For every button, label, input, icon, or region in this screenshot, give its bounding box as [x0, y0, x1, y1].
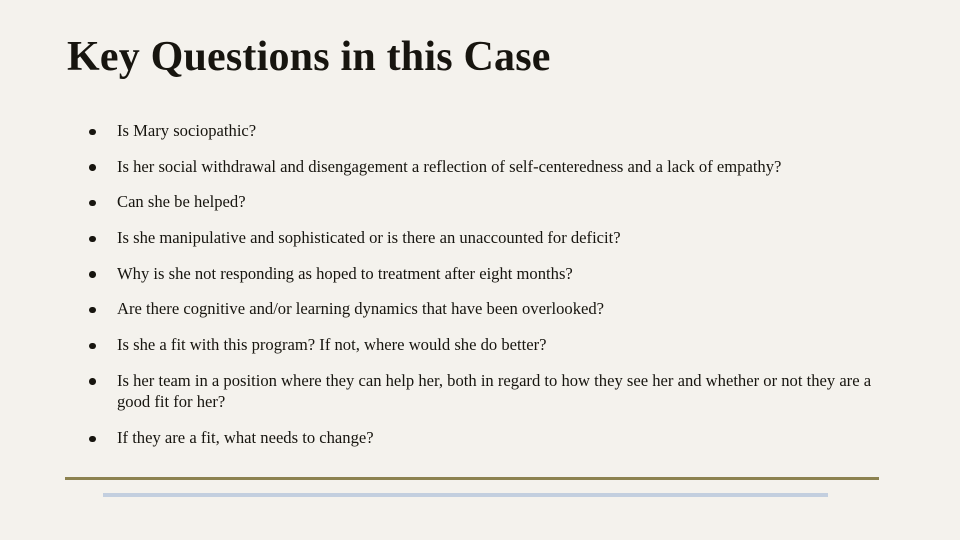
presentation-slide: Key Questions in this Case Is Mary socio…: [0, 0, 960, 540]
key-questions-list: Is Mary sociopathic? Is her social withd…: [86, 120, 886, 449]
list-item: Is Mary sociopathic?: [86, 120, 886, 142]
list-item: Can she be helped?: [86, 191, 886, 213]
list-item-label: Is her team in a position where they can…: [117, 370, 877, 413]
list-item-label: Is she a fit with this program? If not, …: [117, 334, 886, 356]
bullet-dot-icon: [89, 236, 96, 243]
list-item: Is she manipulative and sophisticated or…: [86, 227, 886, 249]
bullet-dot-icon: [89, 343, 96, 350]
bullet-dot-icon: [89, 378, 96, 385]
list-item: Is her social withdrawal and disengageme…: [86, 156, 886, 178]
list-item-label: Are there cognitive and/or learning dyna…: [117, 298, 886, 320]
decorative-rule-blue: [103, 493, 828, 497]
list-item: Are there cognitive and/or learning dyna…: [86, 298, 886, 320]
bullet-dot-icon: [89, 164, 96, 171]
list-item-label: Can she be helped?: [117, 191, 886, 213]
list-item: If they are a fit, what needs to change?: [86, 427, 886, 449]
list-item: Is she a fit with this program? If not, …: [86, 334, 886, 356]
list-item: Is her team in a position where they can…: [86, 370, 886, 413]
bullet-dot-icon: [89, 200, 96, 207]
bullet-dot-icon: [89, 129, 96, 136]
list-item-label: Is she manipulative and sophisticated or…: [117, 227, 886, 249]
list-item-label: If they are a fit, what needs to change?: [117, 427, 886, 449]
list-item: Why is she not responding as hoped to tr…: [86, 263, 886, 285]
list-item-label: Is her social withdrawal and disengageme…: [117, 156, 886, 178]
list-item-label: Is Mary sociopathic?: [117, 120, 886, 142]
decorative-rule-olive: [65, 477, 879, 480]
bullet-dot-icon: [89, 271, 96, 278]
list-item-label: Why is she not responding as hoped to tr…: [117, 263, 886, 285]
page-title: Key Questions in this Case: [67, 31, 551, 83]
bullet-dot-icon: [89, 307, 96, 314]
bullet-dot-icon: [89, 436, 96, 443]
